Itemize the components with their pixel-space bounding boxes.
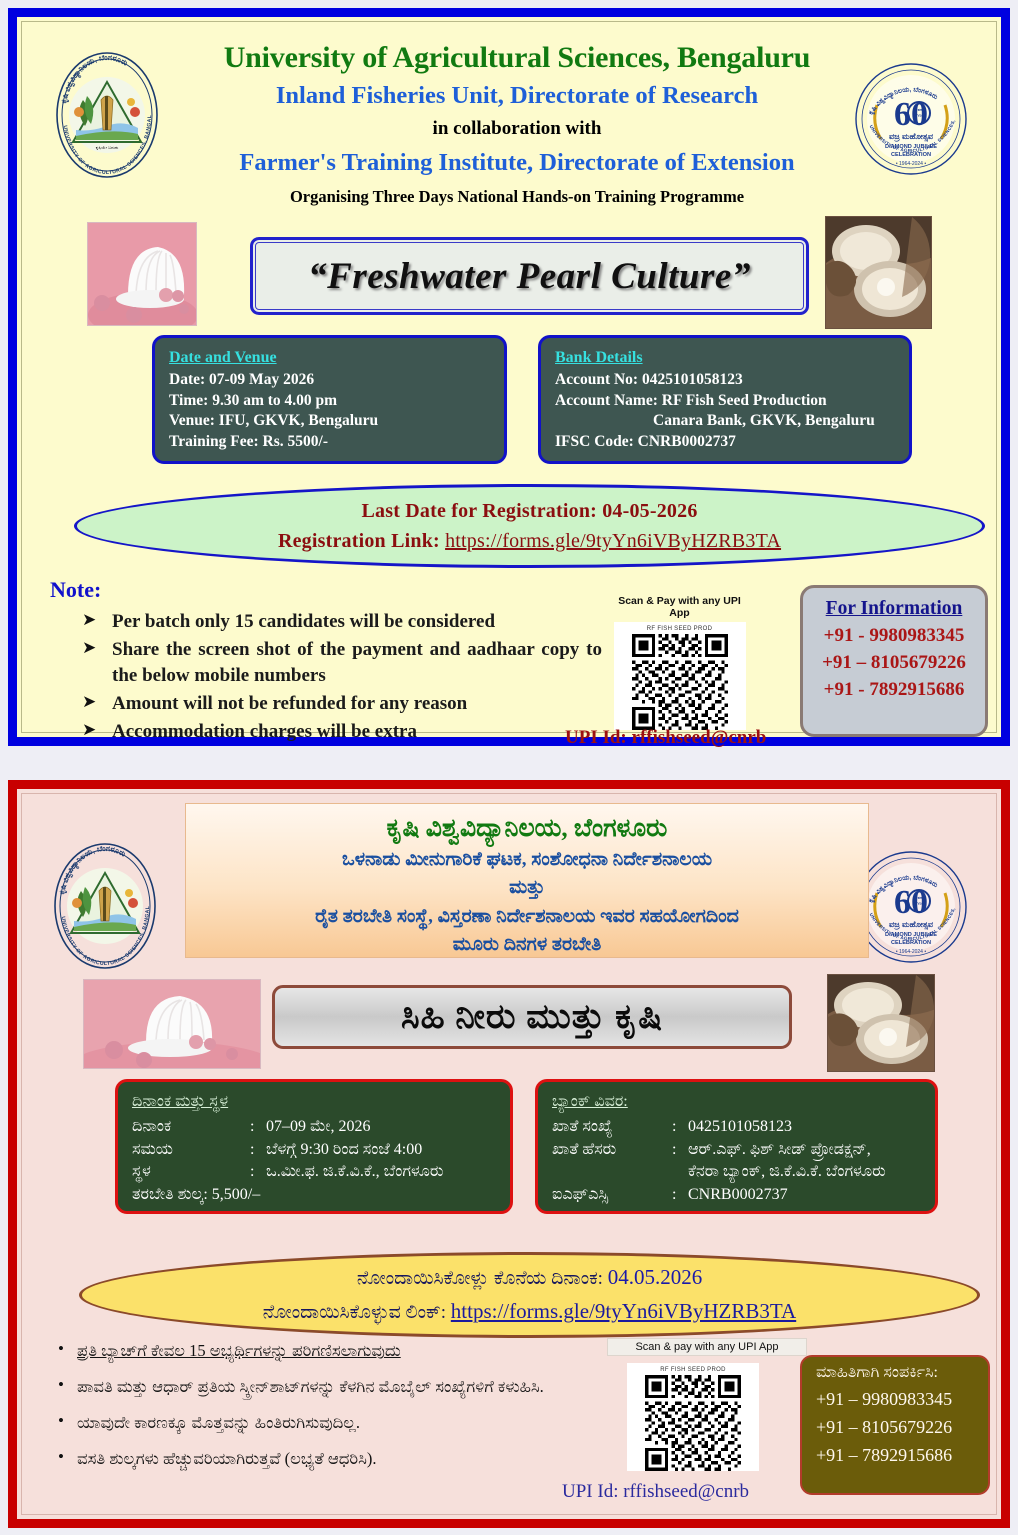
note-item: ➤ Accommodation charges will be extra [82, 719, 602, 744]
uas-logo-icon: ಕೃಷಿ ವಿಶ್ವವಿದ್ಯಾನಿಲಯ, ಬೆಂಗಳೂರು UNIVERSIT… [51, 841, 159, 971]
last-date-label-kannada: ನೋಂದಾಯಿಸಿಕೋಳ್ಲು ಕೊನೆಯ ದಿನಾಂಕ: [357, 1268, 608, 1289]
pearl-shell-image [83, 979, 261, 1069]
note-text: Share the screen shot of the payment and… [112, 637, 602, 688]
poster-page: ಕೃಷಿಯೇ ಬದುಕು ಕೃಷಿ ವಿಶ್ವವಿದ್ಯಾನಿಲಯ, ಬೆಂಗಳ… [0, 0, 1018, 1535]
account-name-line: Account Name: RF Fish Seed Production [555, 391, 909, 412]
svg-text:th Year: th Year [912, 901, 926, 906]
upi-id-text-kannada: UPI Id: rffishseed@cnrb [562, 1481, 749, 1503]
account-name-row: ಖಾತೆ ಹೆಸರು : ಆರ್.ಎಫ್. ಫಿಶ್ ಸೀಡ್ ಪ್ರೋಡಕ್ಷ… [552, 1139, 935, 1161]
time-row: ಸಮಯ : ಬೆಳಗ್ಗೆ 9:30 ರಿಂದ ಸಂಜೆ 4:00 [132, 1139, 510, 1161]
bank-heading-kannada: ಬ್ಯಾಂಕ್ ವಿವರ: [552, 1091, 935, 1113]
registration-link[interactable]: https://forms.gle/9tyYn6iVByHZRB3TA [445, 530, 781, 552]
account-no-value: 0425101058123 [688, 1116, 792, 1138]
diamond-jubilee-logo-icon: 60 ಈ ವರ್ಷ th Year ವಜ್ರ ಮಹೋತ್ಸವ DIAMOND J… [855, 53, 967, 183]
bullet-icon: • [45, 1447, 77, 1467]
upi-qr-block: Scan & Pay with any UPI App RF FISH SEED… [607, 595, 752, 730]
colon: : [250, 1116, 266, 1138]
english-poster: ಕೃಷಿಯೇ ಬದುಕು ಕೃಷಿ ವಿಶ್ವವಿದ್ಯಾನಿಲಯ, ಬೆಂಗಳ… [8, 8, 1010, 746]
contact-heading-kannada: ಮಾಹಿತಿಗಾಗಿ ಸಂಪರ್ಕಿಸಿ: [816, 1364, 988, 1382]
collaboration-label: in collaboration with [167, 118, 867, 140]
bank-branch-line: Canara Bank, GKVK, Bengaluru [555, 411, 909, 432]
registration-ellipse: Last Date for Registration: 04-05-2026 R… [74, 484, 985, 568]
note-item: ➤ Share the screen shot of the payment a… [82, 637, 602, 688]
institute-title: Farmer's Training Institute, Directorate… [167, 149, 867, 177]
svg-text:ಈ ವರ್ಷ: ಈ ವರ್ಷ [913, 107, 925, 112]
last-date-value-kannada: 04.05.2026 [608, 1265, 703, 1289]
registration-link-label-kannada: ನೋಂದಾಯಿಸಿಕೊಳ್ಳುವ ಲಿಂಕ್: [263, 1302, 451, 1323]
time-line: Time: 9.30 am to 4.00 pm [169, 391, 504, 412]
university-title: University of Agricultural Sciences, Ben… [167, 41, 867, 75]
colon: : [250, 1161, 266, 1183]
contact-number: +91 – 8105679226 [816, 1417, 988, 1438]
svg-text:• 1964-2024 •: • 1964-2024 • [896, 949, 926, 955]
note-label: Note: [50, 577, 101, 603]
note-item: • ವಸತಿ ಶುಲ್ಕಗಳು ಹೆಚ್ಚುವರಿಯಾಗಿರುತ್ತವೆ (ಲಭ… [45, 1447, 590, 1470]
programme-title: “Freshwater Pearl Culture” [308, 255, 751, 298]
organising-line: Organising Three Days National Hands-on … [167, 187, 867, 207]
and-label-kannada: ಮತ್ತು [186, 874, 868, 903]
kannada-poster: ಕೃಷಿ ವಿಶ್ವವಿದ್ಯಾನಿಲಯ, ಬೆಂಗಳೂರು UNIVERSIT… [8, 780, 1010, 1528]
arrow-bullet-icon: ➤ [82, 719, 112, 742]
colon: : [672, 1184, 688, 1206]
colon: : [250, 1139, 266, 1161]
date-venue-heading: Date and Venue [169, 347, 504, 368]
university-title-kannada: ಕೃಷಿ ವಿಶ್ವವಿದ್ಯಾನಿಲಯ, ಬೆಂಗಳೂರು [186, 812, 868, 846]
qr-label-kannada: RF FISH SEED PROD [627, 1367, 759, 1373]
time-value: ಬೆಳಗ್ಗೆ 9:30 ರಿಂದ ಸಂಜೆ 4:00 [266, 1139, 422, 1161]
note-item: • ಪ್ರತಿ ಬ್ಯಾಚ್‌ಗೆ ಕೇವಲ 15 ಅಭ್ಯರ್ಥಿಗಳನ್ನು… [45, 1339, 590, 1362]
last-date-line: Last Date for Registration: 04-05-2026 [361, 496, 697, 526]
note-text: ಪ್ರತಿ ಬ್ಯಾಚ್‌ಗೆ ಕೇವಲ 15 ಅಭ್ಯರ್ಥಿಗಳನ್ನು ಪ… [77, 1339, 401, 1362]
contact-number: +91 - 9980983345 [803, 625, 985, 647]
contact-number: +91 – 7892915686 [816, 1445, 988, 1466]
date-venue-box-kannada: ದಿನಾಂಕ ಮತ್ತು ಸ್ಥಳ ದಿನಾಂಕ : 07–09 ಮೇ, 202… [115, 1079, 513, 1214]
note-item: • ಯಾವುದೇ ಕಾರಣಕ್ಕೂ ಮೊತ್ತವನ್ನು ಹಿಂತಿರುಗಿಸು… [45, 1411, 590, 1434]
time-label: ಸಮಯ [132, 1139, 250, 1161]
oyster-pearl-image [827, 974, 935, 1072]
note-item: • ಪಾವತಿ ಮತ್ತು ಆಧಾರ್ ಪ್ರತಿಯ ಸ್ಕ್ರೀನ್‌ಶಾಟ್… [45, 1375, 590, 1398]
date-venue-box: Date and Venue Date: 07-09 May 2026 Time… [152, 335, 507, 464]
duration-label-kannada: ಮೂರು ದಿನಗಳ ತರಬೇತಿ [186, 931, 868, 960]
note-text: ವಸತಿ ಶುಲ್ಕಗಳು ಹೆಚ್ಚುವರಿಯಾಗಿರುತ್ತವೆ (ಲಭ್ಯ… [77, 1447, 377, 1470]
ifsc-value: CNRB0002737 [688, 1184, 788, 1206]
ifsc-row: ಐಎಫ್ಎಸ್ಸಿ : CNRB0002737 [552, 1184, 935, 1206]
registration-link-kannada[interactable]: https://forms.gle/9tyYn6iVByHZRB3TA [451, 1299, 796, 1323]
contact-info-box: For Information +91 - 9980983345 +91 – 8… [800, 585, 988, 737]
svg-text:ವಜ್ರ ಮಹೋತ್ಸವ: ವಜ್ರ ಮಹೋತ್ಸವ [889, 920, 933, 930]
ifsc-label-kannada: ಐಎಫ್ಎಸ್ಸಿ [552, 1184, 672, 1206]
bullet-icon: • [45, 1339, 77, 1359]
svg-text:th Year: th Year [912, 113, 926, 118]
qr-code-image-kannada: RF FISH SEED PROD [627, 1363, 759, 1471]
ifsc-line: IFSC Code: CNRB0002737 [555, 432, 909, 453]
arrow-bullet-icon: ➤ [82, 691, 112, 714]
svg-text:ವಜ್ರ ಮಹೋತ್ಸವ: ವಜ್ರ ಮಹೋತ್ಸವ [889, 132, 933, 142]
note-text: Accommodation charges will be extra [112, 719, 417, 744]
svg-text:• 1964-2024 •: • 1964-2024 • [896, 161, 926, 167]
venue-row: ಸ್ಥಳ : ಒ.ಮೀ.ಫ. ಜಿ.ಕೆ.ವಿ.ಕೆ., ಬೆಂಗಳೂರು [132, 1161, 510, 1183]
bank-branch-kannada: ಕೆನರಾ ಬ್ಯಾಂಕ್, ಜಿ.ಕೆ.ವಿ.ಕೆ. ಬೆಂಗಳೂರು [552, 1161, 935, 1183]
notes-list-kannada: • ಪ್ರತಿ ಬ್ಯಾಚ್‌ಗೆ ಕೇವಲ 15 ಅಭ್ಯರ್ಥಿಗಳನ್ನು… [45, 1339, 590, 1483]
bank-details-box: Bank Details Account No: 0425101058123 A… [538, 335, 912, 464]
account-name-value: ಆರ್.ಎಫ್. ಫಿಶ್ ಸೀಡ್ ಪ್ರೋಡಕ್ಷನ್, [688, 1139, 871, 1161]
note-text: Per batch only 15 candidates will be con… [112, 609, 495, 634]
bank-details-box-kannada: ಬ್ಯಾಂಕ್ ವಿವರ: ಖಾತೆ ಸಂಖ್ಯೆ : 042510105812… [535, 1079, 938, 1214]
registration-link-line-kannada: ನೋಂದಾಯಿಸಿಕೊಳ್ಳುವ ಲಿಂಕ್: https://forms.g… [263, 1295, 796, 1329]
programme-title-banner-kannada: ಸಿಹಿ ನೀರು ಮುತ್ತು ಕೃಷಿ [272, 985, 792, 1049]
contact-number: +91 – 8105679226 [803, 652, 985, 674]
qr-caption: Scan & Pay with any UPI App [607, 595, 752, 619]
note-item: ➤ Amount will not be refunded for any re… [82, 691, 602, 716]
kannada-header-block: ಕೃಷಿ ವಿಶ್ವವಿದ್ಯಾನಿಲಯ, ಬೆಂಗಳೂರು ಒಳನಾಡು ಮೀ… [185, 803, 869, 958]
note-text: Amount will not be refunded for any reas… [112, 691, 467, 716]
colon: : [672, 1139, 688, 1161]
date-venue-heading-kannada: ದಿನಾಂಕ ಮತ್ತು ಸ್ಥಳ [132, 1091, 510, 1113]
english-header-block: University of Agricultural Sciences, Ben… [167, 41, 867, 207]
note-item: ➤ Per batch only 15 candidates will be c… [82, 609, 602, 634]
registration-ellipse-kannada: ನೋಂದಾಯಿಸಿಕೋಳ್ಲು ಕೊನೆಯ ದಿನಾಂಕ: 04.05.202… [79, 1252, 980, 1338]
date-line: Date: 07-09 May 2026 [169, 370, 504, 391]
venue-value: ಒ.ಮೀ.ಫ. ಜಿ.ಕೆ.ವಿ.ಕೆ., ಬೆಂಗಳೂರು [266, 1161, 443, 1183]
account-no-row: ಖಾತೆ ಸಂಖ್ಯೆ : 0425101058123 [552, 1116, 935, 1138]
colon: : [672, 1116, 688, 1138]
account-no-line: Account No: 0425101058123 [555, 370, 909, 391]
last-date-line-kannada: ನೋಂದಾಯಿಸಿಕೋಳ್ಲು ಕೊನೆಯ ದಿನಾಂಕ: 04.05.202… [357, 1261, 702, 1295]
diamond-jubilee-logo-icon: 60 ಈ ವರ್ಷ th Year ವಜ್ರ ಮಹೋತ್ಸವ DIAMOND J… [855, 841, 967, 971]
programme-title-banner: “Freshwater Pearl Culture” [250, 237, 809, 315]
bank-details-heading: Bank Details [555, 347, 909, 368]
qr-caption-kannada: Scan & pay with any UPI App [607, 1338, 807, 1356]
bullet-icon: • [45, 1375, 77, 1395]
venue-line: Venue: IFU, GKVK, Bengaluru [169, 411, 504, 432]
registration-link-line: Registration Link: https://forms.gle/9ty… [278, 526, 781, 556]
bullet-icon: • [45, 1411, 77, 1431]
note-text: ಪಾವತಿ ಮತ್ತು ಆಧಾರ್ ಪ್ರತಿಯ ಸ್ಕ್ರೀನ್‌ಶಾಟ್‌ಗ… [77, 1375, 544, 1398]
fee-line-kannada: ತರಬೇತಿ ಶುಲ್ಕ: 5,500/– [132, 1184, 510, 1206]
account-no-label: ಖಾತೆ ಸಂಖ್ಯೆ [552, 1116, 672, 1138]
unit-title: Inland Fisheries Unit, Directorate of Re… [167, 82, 867, 110]
account-name-label: ಖಾತೆ ಹೆಸರು [552, 1139, 672, 1161]
institute-title-kannada: ರೈತ ತರಬೇತಿ ಸಂಸ್ಥೆ, ವಿಸ್ತರಣಾ ನಿರ್ದೇಶನಾಲಯ … [186, 903, 868, 932]
unit-title-kannada: ಒಳನಾಡು ಮೀನುಗಾರಿಕೆ ಘಟಕ, ಸಂಶೋಧನಾ ನಿರ್ದೇಶನಾ… [186, 846, 868, 875]
notes-list: ➤ Per batch only 15 candidates will be c… [82, 609, 602, 747]
note-text: ಯಾವುದೇ ಕಾರಣಕ್ಕೂ ಮೊತ್ತವನ್ನು ಹಿಂತಿರುಗಿಸುವು… [77, 1411, 360, 1434]
date-value: 07–09 ಮೇ, 2026 [266, 1116, 370, 1138]
qr-code-image: RF FISH SEED PROD [614, 622, 746, 730]
pearl-shell-image [87, 222, 197, 326]
date-label: ದಿನಾಂಕ [132, 1116, 250, 1138]
upi-id-text: UPI Id: rffishseed@cnrb [565, 727, 766, 749]
uas-logo-icon: ಕೃಷಿಯೇ ಬದುಕು ಕೃಷಿ ವಿಶ್ವವಿದ್ಯಾನಿಲಯ, ಬೆಂಗಳ… [53, 50, 161, 180]
oyster-pearl-image [825, 216, 932, 329]
contact-info-box-kannada: ಮಾಹಿತಿಗಾಗಿ ಸಂಪರ್ಕಿಸಿ: +91 – 9980983345 +… [800, 1355, 990, 1495]
qr-label: RF FISH SEED PROD [614, 626, 746, 632]
contact-number: +91 – 9980983345 [816, 1389, 988, 1410]
programme-title-kannada: ಸಿಹಿ ನೀರು ಮುತ್ತು ಕೃಷಿ [401, 997, 663, 1037]
date-row: ದಿನಾಂಕ : 07–09 ಮೇ, 2026 [132, 1116, 510, 1138]
arrow-bullet-icon: ➤ [82, 609, 112, 632]
venue-label: ಸ್ಥಳ [132, 1161, 250, 1183]
contact-heading: For Information [803, 598, 985, 620]
arrow-bullet-icon: ➤ [82, 637, 112, 660]
fee-line: Training Fee: Rs. 5500/- [169, 432, 504, 453]
registration-link-label: Registration Link: [278, 530, 445, 552]
contact-number: +91 - 7892915686 [803, 679, 985, 701]
svg-text:ಈ ವರ್ಷ: ಈ ವರ್ಷ [913, 895, 925, 900]
